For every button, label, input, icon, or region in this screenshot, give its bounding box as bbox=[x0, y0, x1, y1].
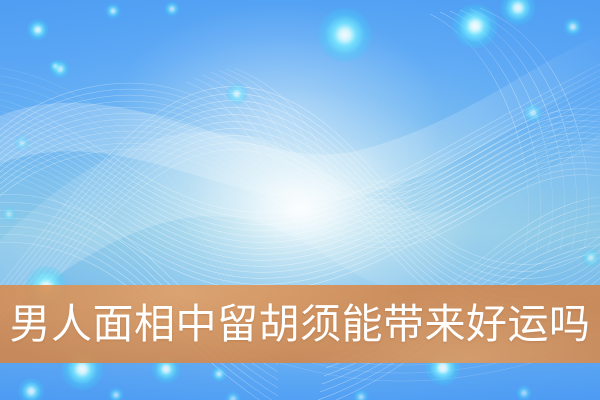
image-canvas: 男人面相中留胡须能带来好运吗 bbox=[0, 0, 600, 400]
page-title: 男人面相中留胡须能带来好运吗 bbox=[10, 304, 591, 345]
title-banner: 男人面相中留胡须能带来好运吗 bbox=[0, 285, 600, 363]
